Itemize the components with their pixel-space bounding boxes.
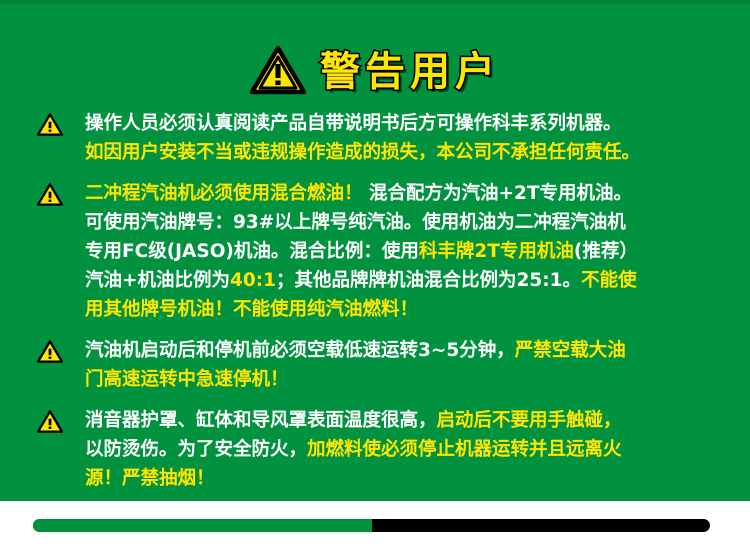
text-run: 源！严禁抽烟！ [85,468,215,489]
warning-triangle-icon [37,183,63,206]
text-run: 加燃料使必须停止机器运转并且远离火 [307,439,622,460]
list-item-body: 二冲程汽油机必须使用混合燃油！ 混合配方为汽油+2T专用机油。 可使用汽油牌号：… [63,179,750,324]
text-line: 门高速运转中急速停机！ [85,365,740,394]
warning-list: 操作人员必须认真阅读产品自带说明书后方可操作科丰系列机器。 如因用户安装不当或违… [0,109,750,505]
warning-triangle-icon [37,113,63,136]
warning-triangle-icon [250,45,306,99]
text-line: 操作人员必须认真阅读产品自带说明书后方可操作科丰系列机器。 [85,109,740,138]
text-run: 启动后不要用手触碰， [437,410,622,431]
progress-bar[interactable] [33,519,710,532]
text-run: (推荐） [574,241,638,262]
list-item: 操作人员必须认真阅读产品自带说明书后方可操作科丰系列机器。 如因用户安装不当或违… [0,109,750,167]
list-item: 二冲程汽油机必须使用混合燃油！ 混合配方为汽油+2T专用机油。 可使用汽油牌号：… [0,179,750,324]
text-run: 如因用户安装不当或违规操作造成的损失，本公司不承担任何责任。 [85,142,640,163]
panel-top-edge [0,0,750,4]
text-run: 可使用汽油牌号：93#以上牌号纯汽油。使用机油为二冲程汽油机 [85,212,626,233]
text-run: 消音器护罩、缸体和导风罩表面温度很高， [85,410,437,431]
text-run: 二冲程汽油机必须使用混合燃油！ [85,183,363,204]
page-title-row: 警告用户 [0,44,750,100]
text-run: 门高速运转中急速停机！ [85,369,289,390]
text-run: 混合配方为汽油+2T专用机油。 [363,183,632,204]
text-line: 消音器护罩、缸体和导风罩表面温度很高，启动后不要用手触碰， [85,406,740,435]
text-line: 专用FC级(JASO)机油。混合比例：使用科丰牌2T专用机油(推荐） [85,237,740,266]
text-line: 可使用汽油牌号：93#以上牌号纯汽油。使用机油为二冲程汽油机 [85,208,740,237]
list-item: 消音器护罩、缸体和导风罩表面温度很高，启动后不要用手触碰， 以防烫伤。为了安全防… [0,406,750,493]
text-run: 严禁空载大油 [515,340,626,361]
text-run: 汽油机启动后和停机前必须空载低速运转3~5分钟， [85,340,515,361]
list-item-body: 汽油机启动后和停机前必须空载低速运转3~5分钟，严禁空载大油 门高速运转中急速停… [63,336,750,394]
text-line: 二冲程汽油机必须使用混合燃油！ 混合配方为汽油+2T专用机油。 [85,179,740,208]
list-item: 汽油机启动后和停机前必须空载低速运转3~5分钟，严禁空载大油 门高速运转中急速停… [0,336,750,394]
list-item-body: 消音器护罩、缸体和导风罩表面温度很高，启动后不要用手触碰， 以防烫伤。为了安全防… [63,406,750,493]
text-run: 用其他牌号机油！不能使用纯汽油燃料！ [85,299,418,320]
text-run: 汽油+机油比例为 [85,270,230,291]
text-run: ；其他品牌牌机油混合比例为25:1。 [276,270,581,291]
text-run: 以防烫伤。为了安全防火， [85,439,307,460]
page-title: 警告用户 [320,52,500,92]
text-line: 用其他牌号机油！不能使用纯汽油燃料！ [85,295,740,324]
list-item-body: 操作人员必须认真阅读产品自带说明书后方可操作科丰系列机器。 如因用户安装不当或违… [63,109,750,167]
warning-triangle-icon [37,410,63,433]
warning-page: 警告用户 操作人员必须认真阅读产品自带说明书后方可操作科丰系列机器。 如因用户安… [0,0,750,556]
progress-bar-fill [33,519,372,532]
text-line: 如因用户安装不当或违规操作造成的损失，本公司不承担任何责任。 [85,138,740,167]
text-run: 40:1 [230,270,276,291]
text-run: 科丰牌2T专用机油 [419,241,574,262]
footer [0,501,750,556]
text-line: 汽油机启动后和停机前必须空载低速运转3~5分钟，严禁空载大油 [85,336,740,365]
warning-triangle-icon [37,340,63,363]
text-line: 以防烫伤。为了安全防火，加燃料使必须停止机器运转并且远离火 [85,435,740,464]
green-panel: 警告用户 操作人员必须认真阅读产品自带说明书后方可操作科丰系列机器。 如因用户安… [0,0,750,501]
text-run: 操作人员必须认真阅读产品自带说明书后方可操作科丰系列机器。 [85,113,622,134]
text-line: 汽油+机油比例为40:1；其他品牌牌机油混合比例为25:1。不能使 [85,266,740,295]
text-run: 专用FC级(JASO)机油。混合比例：使用 [85,241,419,262]
text-run: 不能使 [581,270,637,291]
text-line: 源！严禁抽烟！ [85,464,740,493]
